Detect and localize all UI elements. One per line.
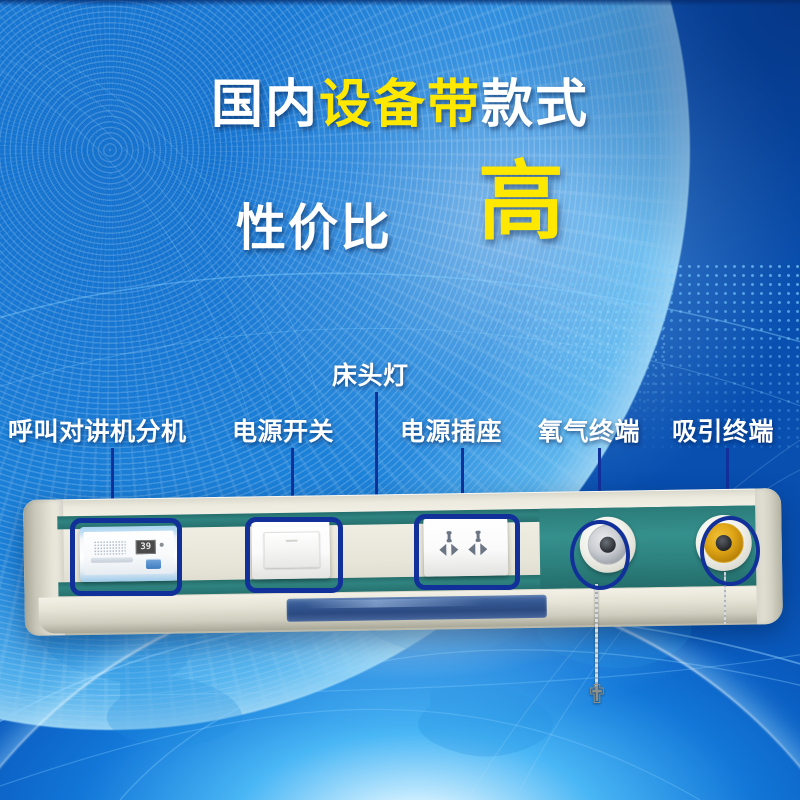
callout-highlight-intercom (70, 518, 182, 596)
callout-highlight-outlet (414, 514, 520, 590)
callout-label-outlet: 电源插座 (400, 412, 502, 448)
poster-canvas: 国内设备带款式 性价比高 呼叫对讲机分机 电源开关 床头灯 电源插座 氧气终端 … (0, 0, 800, 800)
pull-cord[interactable] (595, 584, 598, 690)
callout-label-bedlamp: 床头灯 (332, 356, 409, 392)
callout-highlight-suction (700, 516, 760, 586)
pull-cord-weight-icon[interactable]: ✟ (582, 682, 612, 708)
callout-highlight-switch (245, 517, 343, 593)
callout-label-intercom: 呼叫对讲机分机 (8, 412, 187, 448)
callout-highlight-oxygen (570, 520, 630, 590)
callout-label-oxygen: 氧气终端 (538, 412, 640, 448)
callout-label-switch: 电源开关 (232, 412, 334, 448)
top-edge-shadow (0, 0, 800, 6)
halftone-dot-field-secondary (460, 300, 670, 420)
callout-label-suction: 吸引终端 (672, 412, 774, 448)
corner-vignette (500, 0, 800, 300)
